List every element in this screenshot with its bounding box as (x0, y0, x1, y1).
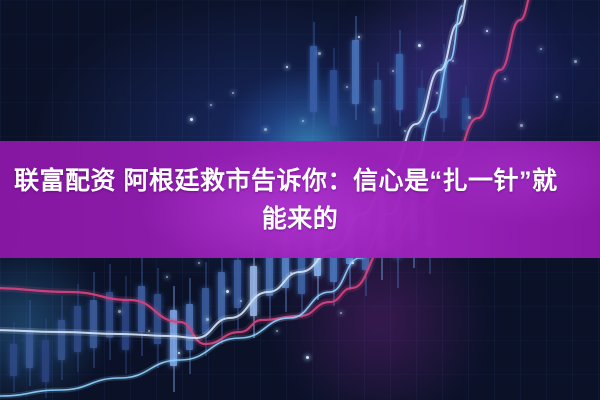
sparkle-dot (418, 44, 421, 47)
headline-block: 联富配资 阿根廷救市告诉你：信心是“扎一针”就 能来的 (0, 141, 600, 258)
sparkle-dot (286, 66, 288, 68)
sparkle-dot (574, 60, 577, 63)
sparkle-dot (352, 262, 354, 264)
sparkle-dot (190, 118, 193, 121)
sparkle-dot (346, 86, 348, 88)
sparkle-dot (306, 356, 309, 359)
sparkle-dot (210, 104, 212, 106)
sparkle-dot (198, 262, 200, 264)
headline-line-1: 联富配资 阿根廷救市告诉你：信心是“扎一针”就 (14, 162, 586, 200)
sparkle-dot (290, 272, 292, 274)
sparkle-dot (372, 108, 375, 111)
sparkle-dot (468, 116, 471, 119)
sparkle-dot (404, 130, 406, 132)
headline-line-2: 能来的 (14, 200, 586, 238)
sparkle-dot (436, 92, 438, 94)
sparkle-dot (520, 124, 523, 127)
sparkle-dot (232, 92, 234, 94)
sparkle-dot (148, 330, 150, 332)
sparkle-dot (340, 312, 342, 314)
sparkle-dot (486, 30, 488, 32)
sparkle-dot (504, 78, 506, 80)
sparkle-dot (302, 120, 304, 122)
sparkle-dot (392, 70, 394, 72)
banner-image: 联富配资 阿根廷救市告诉你：信心是“扎一针”就 能来的 (0, 0, 600, 400)
sparkle-dot (178, 352, 180, 354)
sparkle-dot (358, 36, 360, 38)
sparkle-dot (118, 310, 121, 313)
sparkle-dot (264, 128, 267, 131)
sparkle-dot (556, 96, 558, 98)
sparkle-dot (276, 330, 278, 332)
sparkle-dot (452, 60, 454, 62)
sparkle-dot (206, 318, 209, 321)
sparkle-dot (540, 48, 542, 50)
sparkle-dot (226, 290, 229, 293)
sparkle-dot (240, 300, 242, 302)
sparkle-dot (166, 276, 168, 278)
sparkle-dot (318, 52, 321, 55)
